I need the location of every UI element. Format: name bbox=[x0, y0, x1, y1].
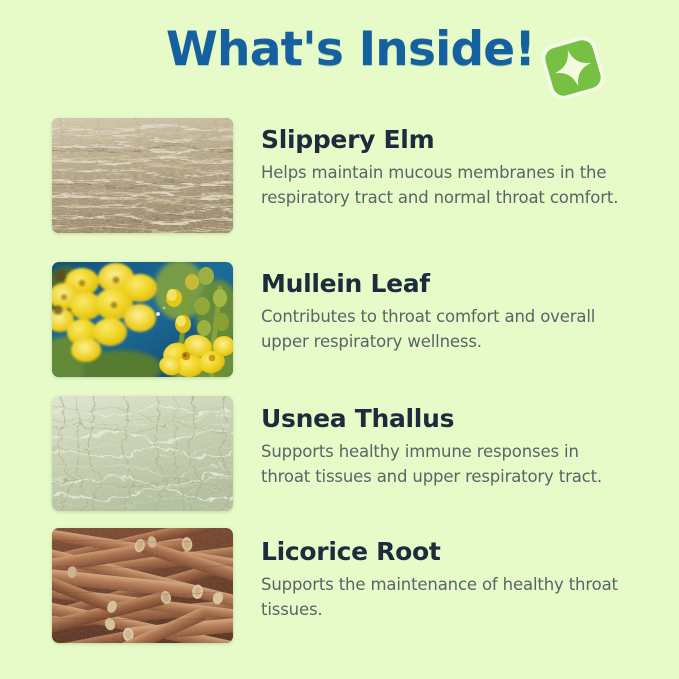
infographic-page: What's Inside! bbox=[0, 0, 679, 679]
ingredient-description: Contributes to throat comfort and overal… bbox=[261, 304, 621, 355]
ingredient-image-licorice-root bbox=[52, 528, 233, 643]
header: What's Inside! bbox=[0, 0, 679, 112]
page-title: What's Inside! bbox=[166, 26, 535, 73]
ingredient-description: Supports the maintenance of healthy thro… bbox=[261, 572, 621, 623]
ingredient-description: Supports healthy immune responses in thr… bbox=[261, 439, 621, 490]
ingredient-name: Licorice Root bbox=[261, 538, 661, 566]
ingredient-name: Slippery Elm bbox=[261, 126, 661, 154]
ingredient-description: Helps maintain mucous membranes in the r… bbox=[261, 160, 621, 211]
ingredient-image-mullein-leaf bbox=[52, 262, 233, 377]
ingredient-text: Mullein Leaf Contributes to throat comfo… bbox=[261, 270, 661, 355]
sparkle-star-icon bbox=[537, 32, 609, 104]
ingredient-text: Usnea Thallus Supports healthy immune re… bbox=[261, 405, 661, 490]
ingredient-image-slippery-elm bbox=[52, 118, 233, 233]
ingredient-name: Usnea Thallus bbox=[261, 405, 661, 433]
ingredient-text: Slippery Elm Helps maintain mucous membr… bbox=[261, 126, 661, 211]
ingredient-text: Licorice Root Supports the maintenance o… bbox=[261, 538, 661, 623]
ingredient-name: Mullein Leaf bbox=[261, 270, 661, 298]
ingredient-image-usnea-thallus bbox=[52, 396, 233, 511]
